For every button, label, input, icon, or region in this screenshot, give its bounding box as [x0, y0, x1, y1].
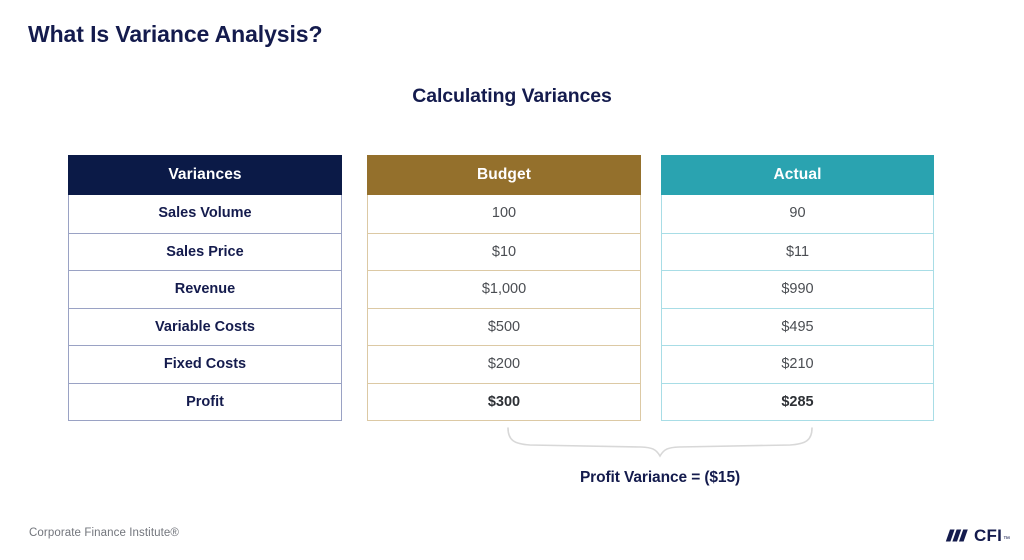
- cfi-wordmark: CFI: [974, 527, 1002, 544]
- table-row: 90: [662, 195, 933, 233]
- table-row: $285: [662, 383, 933, 421]
- profit-variance-caption: Profit Variance = ($15): [0, 469, 1024, 487]
- footer-attribution: Corporate Finance Institute®: [29, 527, 179, 539]
- table-row: $300: [368, 383, 640, 421]
- cfi-bars-icon: [945, 527, 971, 543]
- table-row: $11: [662, 233, 933, 271]
- cfi-trademark: ™: [1002, 536, 1010, 546]
- table-row: $200: [368, 345, 640, 383]
- profit-variance-text: Profit Variance = ($15): [580, 469, 740, 486]
- table-row: Variable Costs: [69, 308, 341, 346]
- table-body-budget: 100 $10 $1,000 $500 $200 $300: [367, 195, 641, 421]
- table-row: Sales Price: [69, 233, 341, 271]
- table-row: $1,000: [368, 270, 640, 308]
- table-budget: Budget 100 $10 $1,000 $500 $200 $300: [367, 155, 641, 421]
- table-row: $990: [662, 270, 933, 308]
- cfi-logo: CFI ™: [945, 524, 1010, 546]
- table-header-variances: Variances: [68, 155, 342, 195]
- slide-canvas: What Is Variance Analysis? Calculating V…: [0, 0, 1024, 560]
- table-row: $10: [368, 233, 640, 271]
- table-header-budget: Budget: [367, 155, 641, 195]
- table-body-actual: 90 $11 $990 $495 $210 $285: [661, 195, 934, 421]
- table-row: $210: [662, 345, 933, 383]
- table-row: $495: [662, 308, 933, 346]
- curly-brace-icon: [500, 422, 820, 462]
- table-body-variances: Sales Volume Sales Price Revenue Variabl…: [68, 195, 342, 421]
- brace-connector: [500, 422, 820, 462]
- table-header-actual: Actual: [661, 155, 934, 195]
- table-actual: Actual 90 $11 $990 $495 $210 $285: [661, 155, 934, 421]
- table-variances: Variances Sales Volume Sales Price Reven…: [68, 155, 342, 421]
- table-row: Revenue: [69, 270, 341, 308]
- table-row: $500: [368, 308, 640, 346]
- table-row: 100: [368, 195, 640, 233]
- table-row: Profit: [69, 383, 341, 421]
- table-row: Sales Volume: [69, 195, 341, 233]
- table-row: Fixed Costs: [69, 345, 341, 383]
